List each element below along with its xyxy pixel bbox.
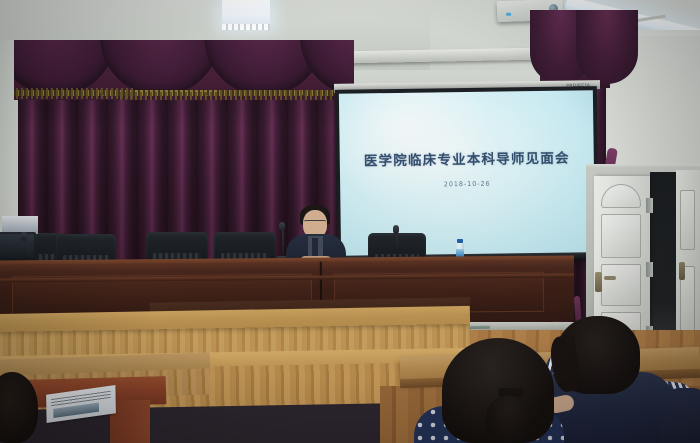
door-hinge: [646, 198, 653, 213]
door-hinge: [646, 262, 653, 277]
door-arch-panel: [601, 184, 641, 208]
microphone-head: [393, 225, 399, 234]
valance-fringe: [16, 88, 136, 99]
water-bottle-cap: [457, 239, 463, 243]
microphone-stem: [396, 230, 398, 258]
microphone-stem: [24, 238, 26, 262]
microphone-head: [279, 222, 285, 231]
valance-fringe: [220, 90, 340, 100]
curtain-valance: [14, 40, 354, 100]
student-arm: [660, 388, 700, 443]
microphone-head: [21, 232, 27, 241]
valance-swag: [576, 10, 638, 84]
eyeglasses-icon: [304, 220, 326, 224]
door-lever-icon[interactable]: [604, 276, 616, 280]
door-handle-icon[interactable]: [679, 262, 685, 280]
projector-led: [506, 13, 511, 16]
lecture-hall-photo: PROJECTA 医学院临床专业本科导师见面会 2018-10-26: [0, 0, 700, 443]
desk-monitor: [0, 232, 36, 264]
door-handle-icon[interactable]: [595, 272, 602, 292]
door-panel: [601, 264, 641, 306]
monitor-screen: [0, 234, 34, 258]
desk-leg: [110, 400, 150, 443]
slide-title: 医学院临床专业本科导师见面会: [340, 146, 594, 170]
door-panel: [601, 214, 641, 258]
door-panel: [680, 190, 695, 250]
ponytail: [486, 396, 532, 443]
fluorescent-light-icon: [222, 0, 270, 26]
